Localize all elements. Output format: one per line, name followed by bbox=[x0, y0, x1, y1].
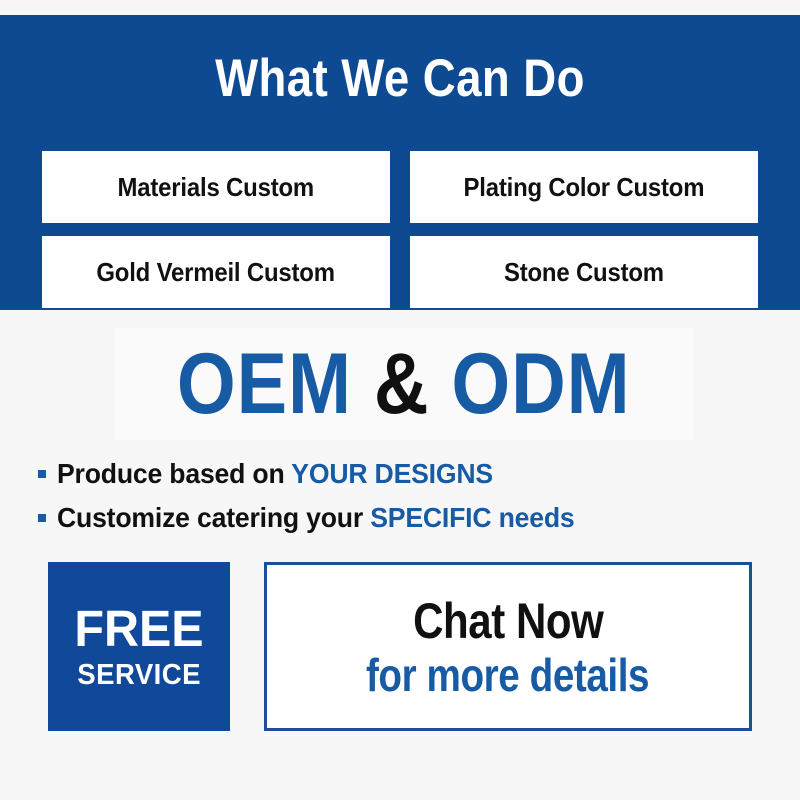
oem-text: OEM bbox=[177, 336, 352, 432]
feature-label: Stone Custom bbox=[504, 258, 664, 286]
feature-box-plating-color-custom[interactable]: Plating Color Custom bbox=[410, 151, 758, 223]
page-title: What We Can Do bbox=[56, 51, 744, 107]
bullet-text-highlight: SPECIFIC needs bbox=[370, 502, 574, 533]
list-item: Produce based on YOUR DESIGNS bbox=[38, 452, 762, 496]
free-service-line2: SERVICE bbox=[77, 659, 201, 691]
bullet-list: Produce based on YOUR DESIGNS Customize … bbox=[38, 452, 762, 540]
bullet-text: Customize catering your SPECIFIC needs bbox=[57, 502, 575, 534]
oem-odm-heading: OEM & ODM bbox=[177, 338, 631, 430]
free-service-line1: FREE bbox=[74, 602, 203, 655]
square-bullet-icon bbox=[38, 470, 46, 478]
chat-now-subline: for more details bbox=[366, 650, 649, 700]
bullet-text-plain: Customize catering your bbox=[57, 502, 370, 533]
promotional-banner: What We Can Do Materials Custom Plating … bbox=[0, 0, 800, 800]
feature-label: Materials Custom bbox=[118, 173, 314, 201]
list-item: Customize catering your SPECIFIC needs bbox=[38, 496, 762, 540]
bullet-text-highlight: YOUR DESIGNS bbox=[291, 458, 493, 489]
feature-box-materials-custom[interactable]: Materials Custom bbox=[42, 151, 390, 223]
feature-box-stone-custom[interactable]: Stone Custom bbox=[410, 236, 758, 308]
ampersand-symbol: & bbox=[374, 336, 430, 432]
header-band: What We Can Do Materials Custom Plating … bbox=[0, 15, 800, 310]
square-bullet-icon bbox=[38, 514, 46, 522]
chat-now-button[interactable]: Chat Now for more details bbox=[264, 562, 752, 731]
free-service-badge: FREE SERVICE bbox=[48, 562, 230, 731]
bullet-text-plain: Produce based on bbox=[57, 458, 291, 489]
feature-grid: Materials Custom Plating Color Custom Go… bbox=[42, 151, 758, 308]
odm-text: ODM bbox=[452, 336, 631, 432]
feature-box-gold-vermeil-custom[interactable]: Gold Vermeil Custom bbox=[42, 236, 390, 308]
chat-now-headline: Chat Now bbox=[413, 594, 603, 648]
feature-label: Gold Vermeil Custom bbox=[97, 258, 335, 286]
oem-odm-panel: OEM & ODM bbox=[115, 328, 693, 440]
feature-label: Plating Color Custom bbox=[464, 173, 705, 201]
bullet-text: Produce based on YOUR DESIGNS bbox=[57, 458, 493, 490]
